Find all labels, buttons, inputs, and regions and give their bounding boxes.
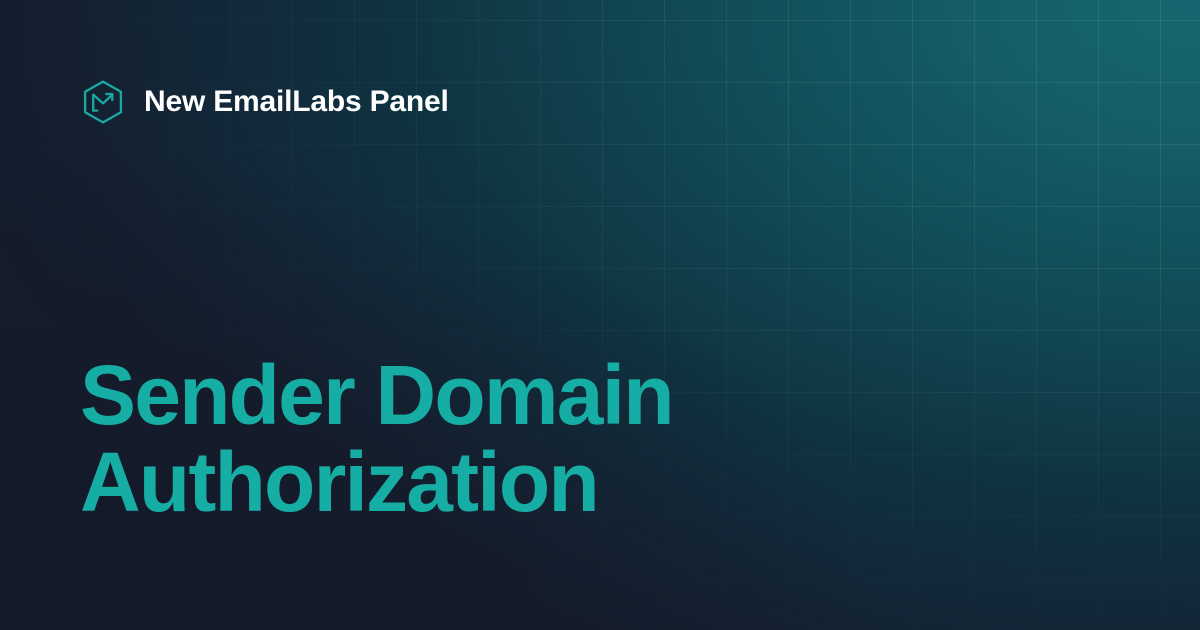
banner-content: New EmailLabs Panel Sender Domain Author… bbox=[0, 0, 1200, 630]
headline-block: Sender Domain Authorization bbox=[80, 352, 980, 527]
headline-line-1: Sender Domain bbox=[80, 352, 980, 439]
headline-line-2: Authorization bbox=[80, 439, 980, 526]
brand-lockup: New EmailLabs Panel bbox=[80, 78, 449, 126]
brand-name-label: New EmailLabs Panel bbox=[144, 87, 449, 117]
emaillabs-hexagon-envelope-icon bbox=[80, 79, 126, 125]
og-banner: New EmailLabs Panel Sender Domain Author… bbox=[0, 0, 1200, 630]
